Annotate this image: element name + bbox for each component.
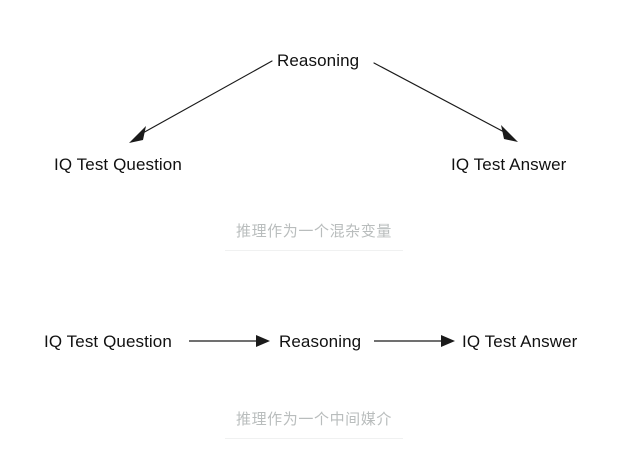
arrow-question-to-reasoning (189, 335, 270, 347)
arrow-reasoning-to-question (129, 61, 272, 143)
node-reasoning-bottom: Reasoning (279, 331, 361, 353)
node-iq-test-answer-top: IQ Test Answer (451, 154, 566, 176)
arrow-reasoning-to-answer (374, 63, 518, 142)
caption-divider-mediator (225, 438, 403, 439)
caption-reasoning-as-mediator: 推理作为一个中间媒介 (0, 410, 628, 430)
caption-reasoning-as-confounder: 推理作为一个混杂变量 (0, 222, 628, 242)
node-iq-test-answer-bottom: IQ Test Answer (462, 331, 577, 353)
node-iq-test-question-top: IQ Test Question (54, 154, 182, 176)
node-iq-test-question-bottom: IQ Test Question (44, 331, 172, 353)
node-reasoning-top: Reasoning (277, 50, 359, 72)
arrow-reasoning-to-answer-bottom (374, 335, 455, 347)
diagram-canvas: Reasoning IQ Test Question IQ Test Answe… (0, 0, 628, 452)
caption-divider-confounder (225, 250, 403, 251)
